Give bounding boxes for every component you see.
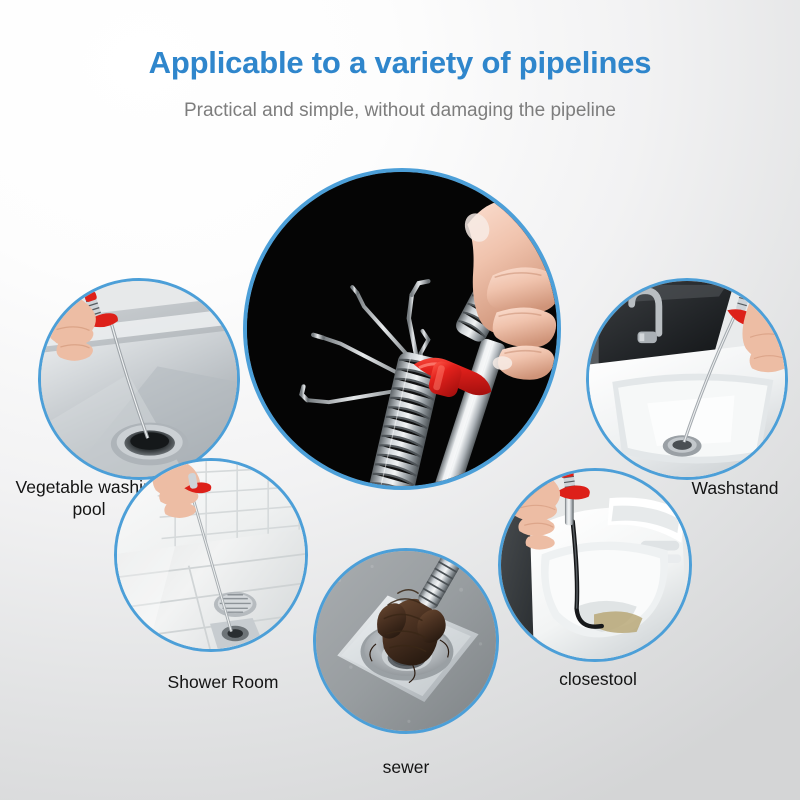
drain-tool-illustration: [247, 172, 557, 486]
vegetable-washing-pool-scene: [41, 281, 237, 477]
application-label-shower-room: Shower Room: [138, 672, 308, 694]
sewer-scene: [316, 551, 496, 731]
closestool-scene: [501, 471, 689, 659]
page-title: Applicable to a variety of pipelines: [0, 45, 800, 81]
steel-sink-illustration: [41, 281, 237, 477]
washbasin-illustration: [589, 281, 785, 477]
application-image-vegetable-washing-pool: [38, 278, 240, 480]
hero-product-image: [243, 168, 561, 490]
toilet-illustration: [501, 471, 689, 659]
product-infographic: Applicable to a variety of pipelines Pra…: [0, 0, 800, 800]
page-subtitle: Practical and simple, without damaging t…: [0, 100, 800, 122]
application-image-closestool: [498, 468, 692, 662]
application-image-shower-room: [114, 458, 308, 652]
shower-room-scene: [117, 461, 305, 649]
floor-drain-clog-illustration: [316, 551, 496, 731]
shower-floor-illustration: [117, 461, 305, 649]
application-image-washstand: [586, 278, 788, 480]
application-label-washstand: Washstand: [672, 478, 798, 500]
hero-scene: [247, 172, 557, 486]
application-label-sewer: sewer: [316, 757, 496, 779]
application-image-sewer: [313, 548, 499, 734]
application-label-closestool: closestool: [508, 669, 688, 691]
washstand-scene: [589, 281, 785, 477]
